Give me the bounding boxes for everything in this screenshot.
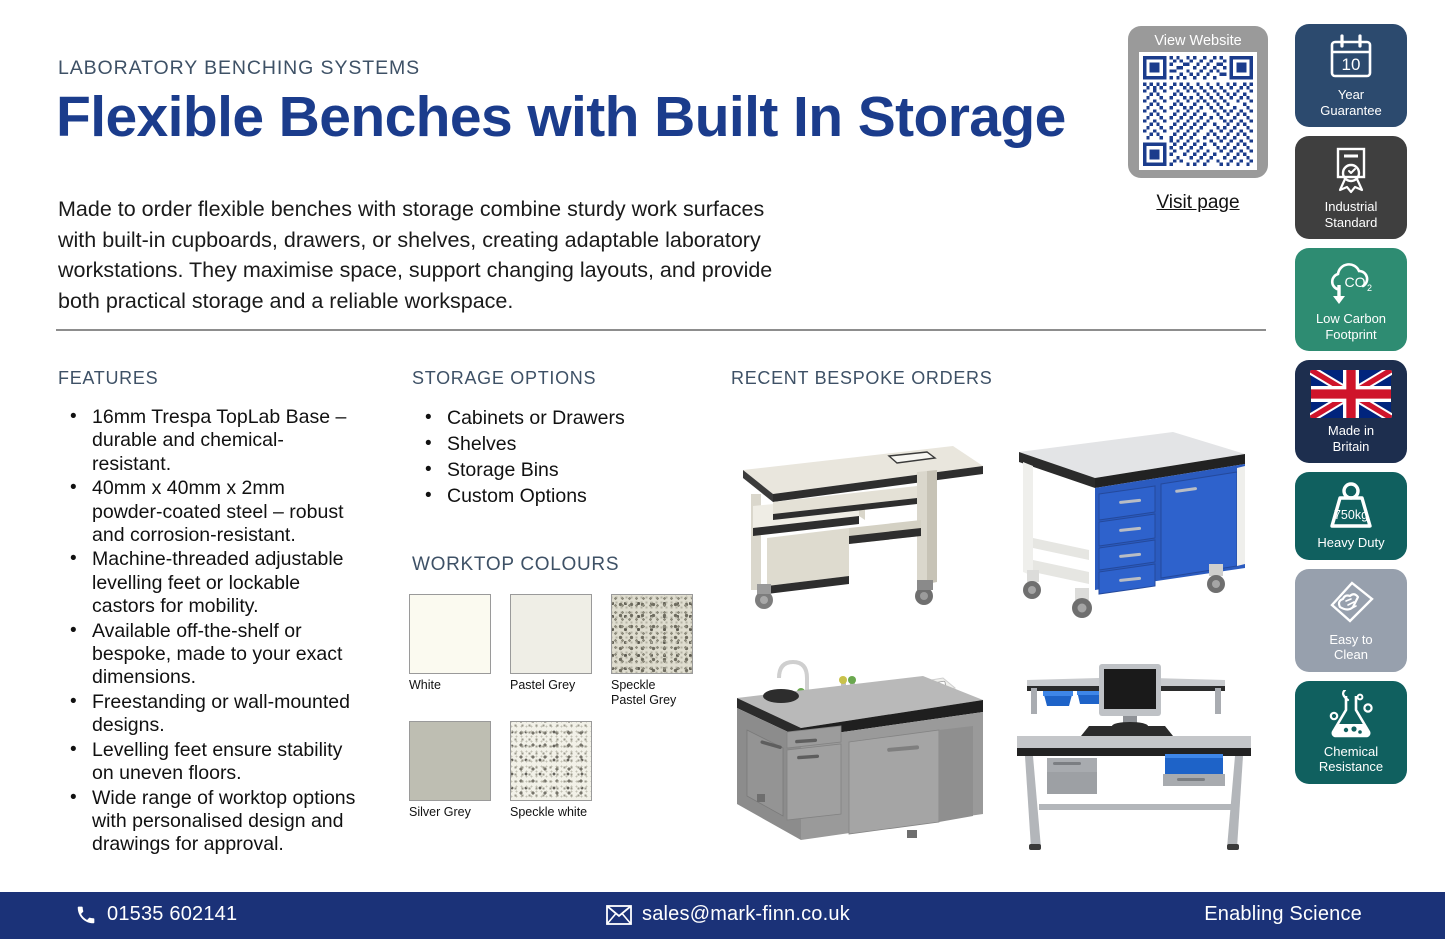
- list-item: Custom Options: [415, 484, 675, 509]
- badge-label: Heavy Duty: [1317, 535, 1384, 551]
- workstation-with-monitor-photo: [1003, 644, 1265, 866]
- header-divider: [56, 329, 1266, 331]
- datasheet-page: LABORATORY BENCHING SYSTEMS Flexible Ben…: [0, 0, 1445, 939]
- swatch-white[interactable]: White: [409, 594, 491, 707]
- footer-phone[interactable]: 01535 602141: [75, 903, 237, 926]
- list-item: Shelves: [415, 432, 675, 457]
- flask-icon: [1324, 689, 1378, 741]
- swatch-chip: [510, 594, 592, 674]
- swatch-chip: [611, 594, 693, 674]
- footer-bar: 01535 602141 sales@mark-finn.co.uk Enabl…: [0, 892, 1445, 939]
- calendar-icon: 10: [1325, 32, 1377, 84]
- mobile-computer-bench-photo: [731, 408, 993, 624]
- wipe-cloth-icon: [1326, 577, 1376, 629]
- qr-code-icon[interactable]: [1139, 52, 1257, 170]
- list-item: Levelling feet ensure stability on uneve…: [60, 739, 360, 786]
- badge-label: Industrial Standard: [1325, 199, 1378, 230]
- eyebrow-text: LABORATORY BENCHING SYSTEMS: [58, 57, 420, 80]
- badge-label: Low Carbon Footprint: [1316, 311, 1386, 342]
- swatch-speckle-pastel-grey[interactable]: Speckle Pastel Grey: [611, 594, 693, 707]
- swatch-label: Pastel Grey: [510, 678, 592, 693]
- list-item: Wide range of worktop options with perso…: [60, 787, 360, 857]
- badge-easy-to-clean: Easy to Clean: [1295, 569, 1407, 672]
- features-list: 16mm Trespa TopLab Base – durable and ch…: [60, 406, 360, 858]
- badge-heavy-duty: 750kg Heavy Duty: [1295, 472, 1407, 560]
- list-item: Machine-threaded adjustable levelling fe…: [60, 548, 360, 618]
- features-heading: FEATURES: [58, 368, 158, 389]
- badge-low-carbon-footprint: CO 2 Low Carbon Footprint: [1295, 248, 1407, 351]
- badge-label: Year Guarantee: [1320, 87, 1381, 118]
- worktop-colours-heading: WORKTOP COLOURS: [412, 554, 619, 576]
- visit-page-link[interactable]: Visit page: [1128, 192, 1268, 214]
- swatch-chip: [510, 721, 592, 801]
- swatch-speckle-white[interactable]: Speckle white: [510, 721, 592, 820]
- feature-badge-rail: 10 Year Guarantee Industrial Stan: [1295, 24, 1407, 793]
- svg-text:2: 2: [1367, 283, 1372, 293]
- grey-bench-with-sink-photo: [731, 644, 993, 866]
- swatch-label: Silver Grey: [409, 805, 491, 820]
- envelope-icon: [606, 905, 632, 925]
- weight-icon: 750kg: [1322, 480, 1380, 532]
- product-photo-grid: [731, 400, 1271, 880]
- heavy-duty-value: 750kg: [1334, 508, 1368, 522]
- storage-options-heading: STORAGE OPTIONS: [412, 368, 596, 389]
- qr-card-title: View Website: [1128, 30, 1268, 52]
- badge-label: Easy to Clean: [1329, 632, 1372, 663]
- badge-made-in-britain: Made in Britain: [1295, 360, 1407, 463]
- union-jack-icon: [1310, 368, 1392, 420]
- storage-options-list: Cabinets or Drawers Shelves Storage Bins…: [415, 406, 675, 510]
- list-item: Freestanding or wall-mounted designs.: [60, 691, 360, 738]
- swatch-chip: [409, 721, 491, 801]
- list-item: 16mm Trespa TopLab Base – durable and ch…: [60, 406, 360, 476]
- qr-card[interactable]: View Website: [1128, 26, 1268, 178]
- swatch-label: Speckle white: [510, 805, 592, 820]
- page-title: Flexible Benches with Built In Storage: [56, 88, 1066, 148]
- footer-email[interactable]: sales@mark-finn.co.uk: [606, 903, 850, 926]
- badge-label: Chemical Resistance: [1319, 744, 1383, 775]
- badge-industrial-standard: Industrial Standard: [1295, 136, 1407, 239]
- svg-text:CO: CO: [1345, 274, 1366, 290]
- mobile-bench-blue-drawers-photo: [1003, 408, 1265, 624]
- swatch-silver-grey[interactable]: Silver Grey: [409, 721, 491, 820]
- list-item: Cabinets or Drawers: [415, 406, 675, 431]
- intro-paragraph: Made to order flexible benches with stor…: [58, 194, 788, 316]
- swatch-pastel-grey[interactable]: Pastel Grey: [510, 594, 592, 707]
- footer-tagline: Enabling Science: [1204, 903, 1362, 926]
- co2-cloud-icon: CO 2: [1323, 256, 1379, 308]
- badge-chemical-resistance: Chemical Resistance: [1295, 681, 1407, 784]
- qr-block[interactable]: View Website: [1128, 26, 1268, 214]
- badge-year-guarantee: 10 Year Guarantee: [1295, 24, 1407, 127]
- swatch-chip: [409, 594, 491, 674]
- list-item: 40mm x 40mm x 2mm powder-coated steel – …: [60, 477, 360, 547]
- recent-orders-heading: RECENT BESPOKE ORDERS: [731, 368, 992, 389]
- certificate-icon: [1328, 144, 1374, 196]
- list-item: Available off-the-shelf or bespoke, made…: [60, 620, 360, 690]
- list-item: Storage Bins: [415, 458, 675, 483]
- phone-icon: [75, 904, 97, 926]
- badge-label: Made in Britain: [1328, 423, 1374, 454]
- footer-email-address: sales@mark-finn.co.uk: [642, 903, 850, 926]
- swatch-label: White: [409, 678, 491, 693]
- swatch-label: Speckle Pastel Grey: [611, 678, 693, 707]
- worktop-colour-swatches: White Pastel Grey Speckle Pastel Grey Si…: [409, 594, 699, 826]
- guarantee-value: 10: [1342, 55, 1361, 74]
- footer-phone-number: 01535 602141: [107, 903, 237, 926]
